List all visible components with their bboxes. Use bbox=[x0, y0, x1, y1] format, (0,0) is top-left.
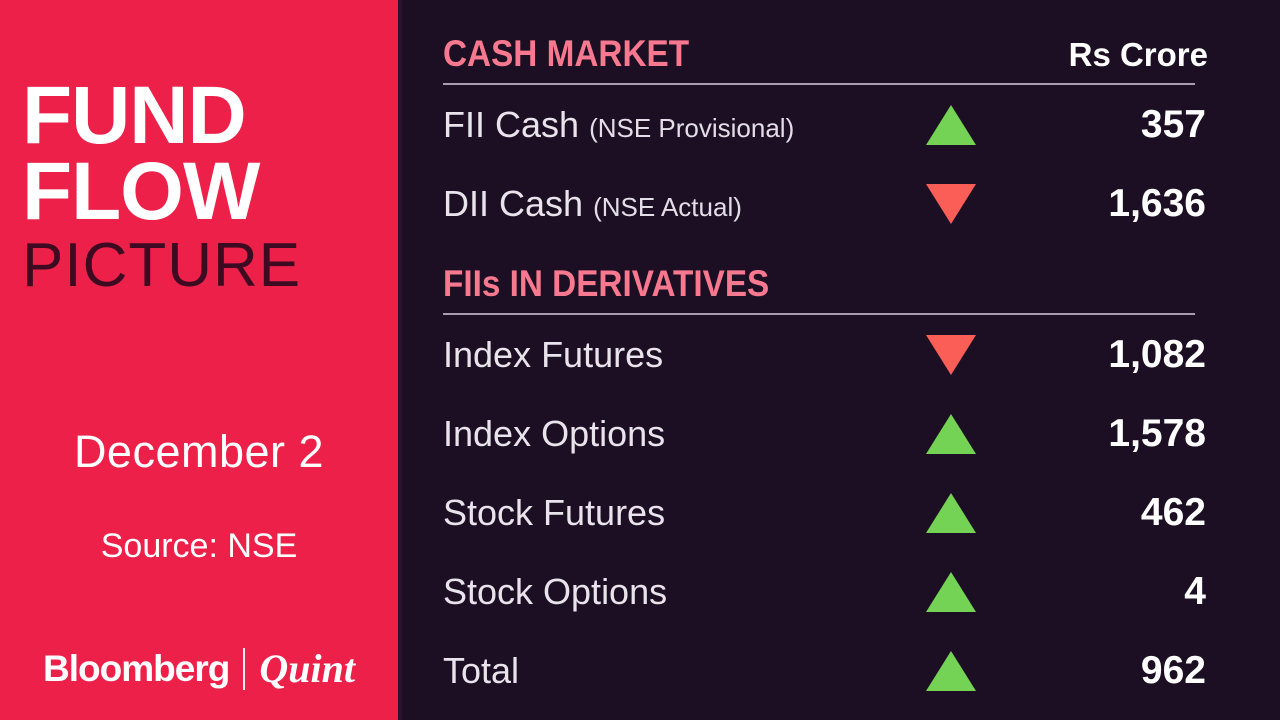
arrow-up-icon bbox=[926, 572, 976, 612]
row-label: Index Futures bbox=[443, 334, 896, 376]
rows-cash-market: FII Cash (NSE Provisional) 357 DII Cash … bbox=[443, 85, 1238, 243]
section-header: FIIs IN DERIVATIVES bbox=[443, 263, 1238, 311]
row-label-text: FII Cash bbox=[443, 104, 579, 145]
table-row: Index Futures 1,082 bbox=[443, 315, 1238, 394]
row-label-text: Index Options bbox=[443, 413, 665, 454]
row-label-text: DII Cash bbox=[443, 183, 583, 224]
arrow-up-icon bbox=[926, 493, 976, 533]
arrow-up-icon bbox=[926, 105, 976, 145]
row-label-qualifier: (NSE Actual) bbox=[593, 192, 742, 222]
row-label-text: Stock Futures bbox=[443, 492, 665, 533]
table-row: Index Options 1,578 bbox=[443, 394, 1238, 473]
quint-wordmark: Quint bbox=[259, 645, 355, 692]
fund-flow-infographic: FUND FLOW PICTURE December 2 Source: NSE… bbox=[0, 0, 1280, 720]
row-value: 1,636 bbox=[1006, 182, 1238, 226]
row-label: Stock Futures bbox=[443, 492, 896, 534]
data-panel: CASH MARKET Rs Crore FII Cash (NSE Provi… bbox=[402, 0, 1280, 720]
row-label: Index Options bbox=[443, 413, 896, 455]
table-row: FII Cash (NSE Provisional) 357 bbox=[443, 85, 1238, 164]
rows-derivatives: Index Futures 1,082 Index Options 1,578 bbox=[443, 315, 1238, 710]
publisher-logo: Bloomberg Quint bbox=[0, 645, 398, 692]
section-cash-market: CASH MARKET Rs Crore FII Cash (NSE Provi… bbox=[443, 33, 1238, 243]
direction-cell bbox=[896, 105, 1006, 145]
direction-cell bbox=[896, 493, 1006, 533]
brand-title-line1: FUND bbox=[22, 78, 380, 154]
arrow-down-icon bbox=[926, 335, 976, 375]
row-value: 1,082 bbox=[1006, 333, 1238, 377]
direction-cell bbox=[896, 335, 1006, 375]
unit-label: Rs Crore bbox=[1069, 36, 1238, 74]
brand-title-line2: FLOW bbox=[22, 154, 380, 230]
table-row: Stock Options 4 bbox=[443, 552, 1238, 631]
section-title-fiis-in-derivatives: FIIs IN DERIVATIVES bbox=[443, 263, 769, 305]
brand-panel: FUND FLOW PICTURE December 2 Source: NSE… bbox=[0, 0, 398, 720]
table-row: Stock Futures 462 bbox=[443, 473, 1238, 552]
row-label: Stock Options bbox=[443, 571, 896, 613]
table-row: DII Cash (NSE Actual) 1,636 bbox=[443, 164, 1238, 243]
row-value: 4 bbox=[1006, 570, 1238, 614]
section-header: CASH MARKET Rs Crore bbox=[443, 33, 1238, 81]
date-label: December 2 bbox=[0, 426, 398, 478]
row-label: Total bbox=[443, 650, 896, 692]
row-label: DII Cash (NSE Actual) bbox=[443, 183, 896, 225]
direction-cell bbox=[896, 414, 1006, 454]
row-label-text: Index Futures bbox=[443, 334, 663, 375]
row-value: 962 bbox=[1006, 649, 1238, 693]
row-label-qualifier: (NSE Provisional) bbox=[589, 113, 794, 143]
direction-cell bbox=[896, 651, 1006, 691]
arrow-down-icon bbox=[926, 184, 976, 224]
row-value: 462 bbox=[1006, 491, 1238, 535]
arrow-up-icon bbox=[926, 651, 976, 691]
direction-cell bbox=[896, 572, 1006, 612]
direction-cell bbox=[896, 184, 1006, 224]
brand-title-block: FUND FLOW PICTURE bbox=[22, 78, 380, 297]
row-label-text: Stock Options bbox=[443, 571, 667, 612]
section-title-cash-market: CASH MARKET bbox=[443, 33, 689, 75]
bloomberg-wordmark: Bloomberg bbox=[43, 648, 229, 690]
source-label: Source: NSE bbox=[0, 527, 398, 566]
logo-divider-icon bbox=[243, 648, 245, 690]
row-value: 1,578 bbox=[1006, 412, 1238, 456]
row-label: FII Cash (NSE Provisional) bbox=[443, 104, 896, 146]
brand-subtitle: PICTURE bbox=[22, 235, 380, 297]
row-value: 357 bbox=[1006, 103, 1238, 147]
section-fiis-in-derivatives: FIIs IN DERIVATIVES Index Futures 1,082 … bbox=[443, 263, 1238, 710]
row-label-text: Total bbox=[443, 650, 519, 691]
table-row: Total 962 bbox=[443, 631, 1238, 710]
arrow-up-icon bbox=[926, 414, 976, 454]
